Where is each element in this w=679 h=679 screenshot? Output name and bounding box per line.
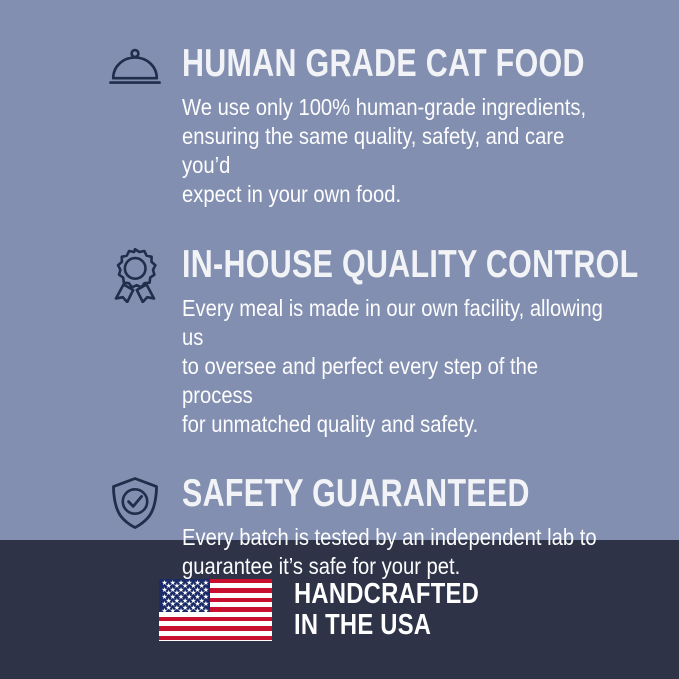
cloche-icon — [104, 44, 166, 106]
features-section: HUMAN GRADE CAT FOOD We use only 100% hu… — [0, 0, 679, 540]
feature-title: HUMAN GRADE CAT FOOD — [182, 44, 570, 84]
shield-check-icon — [104, 474, 166, 536]
flag-stripe — [159, 626, 272, 631]
feature-description: We use only 100% human-grade ingredients… — [182, 93, 609, 209]
infographic-panel: HUMAN GRADE CAT FOOD We use only 100% hu… — [0, 0, 679, 679]
footer-label: HANDCRAFTED IN THE USA — [294, 579, 479, 641]
feature-body: SAFETY GUARANTEED Every batch is tested … — [166, 474, 679, 581]
feature-title: IN-HOUSE QUALITY CONTROL — [182, 245, 570, 285]
flag-star: ★ — [203, 608, 209, 612]
flag-star: ★ — [178, 608, 184, 612]
flag-star: ★ — [194, 608, 200, 612]
flag-stripe — [159, 617, 272, 622]
feature-body: IN-HOUSE QUALITY CONTROL Every meal is m… — [166, 245, 679, 439]
flag-canton: ★★★★★★★★★★★★★★★★★★★★★★★★★★★★★★★★★★★★★★★★… — [159, 579, 210, 612]
feature-title: SAFETY GUARANTEED — [182, 474, 570, 514]
feature-human-grade-cat-food: HUMAN GRADE CAT FOOD We use only 100% hu… — [0, 0, 679, 209]
award-rosette-icon — [104, 245, 166, 307]
feature-description: Every batch is tested by an independent … — [182, 523, 609, 581]
feature-body: HUMAN GRADE CAT FOOD We use only 100% hu… — [166, 44, 679, 209]
flag-star: ★ — [161, 608, 167, 612]
feature-in-house-quality-control: IN-HOUSE QUALITY CONTROL Every meal is m… — [0, 209, 679, 439]
feature-description: Every meal is made in our own facility, … — [182, 294, 609, 439]
flag-stripe — [159, 636, 272, 641]
flag-star: ★ — [170, 608, 176, 612]
feature-safety-guaranteed: SAFETY GUARANTEED Every batch is tested … — [0, 439, 679, 581]
usa-flag-icon: ★★★★★★★★★★★★★★★★★★★★★★★★★★★★★★★★★★★★★★★★… — [159, 579, 272, 641]
flag-star: ★ — [186, 608, 192, 612]
